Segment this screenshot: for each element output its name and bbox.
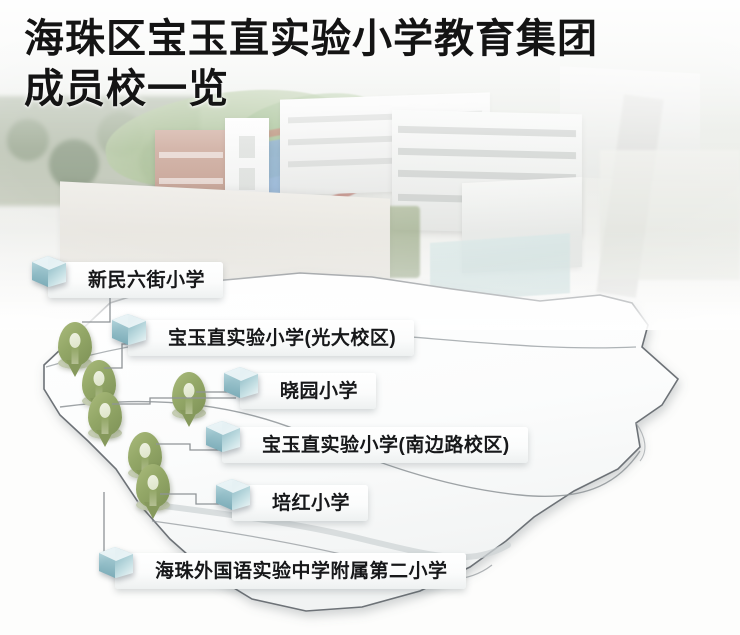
school-label-text: 海珠外国语实验中学附属第二小学 xyxy=(155,562,448,581)
school-label-text: 晓园小学 xyxy=(280,382,358,401)
school-label-text: 宝玉直实验小学(光大校区) xyxy=(168,329,396,348)
pin-stem xyxy=(102,418,109,434)
school-label-text: 宝玉直实验小学(南边路校区) xyxy=(262,436,510,455)
school-label-baoyuzhi-nanbianlu[interactable]: 宝玉直实验小学(南边路校区) xyxy=(222,427,528,463)
pin-hole xyxy=(70,333,81,348)
school-label-text: 培红小学 xyxy=(272,494,350,513)
ribbon-flag-icon xyxy=(218,364,264,404)
school-label-baoyuzhi-guangda[interactable]: 宝玉直实验小学(光大校区) xyxy=(128,320,414,356)
school-label-haiwai-fushu-2[interactable]: 海珠外国语实验中学附属第二小学 xyxy=(115,553,466,589)
pin-hole xyxy=(94,371,105,386)
ribbon-flag-icon xyxy=(93,544,139,584)
school-label-xinmin-liujie[interactable]: 新民六街小学 xyxy=(48,262,223,298)
school-label-xiaoyuan[interactable]: 晓园小学 xyxy=(240,373,376,409)
school-label-peihong[interactable]: 培红小学 xyxy=(232,485,368,521)
pin-hole xyxy=(100,403,111,418)
pin-hole xyxy=(184,383,195,398)
pin-stem xyxy=(150,490,157,506)
school-label-text: 新民六街小学 xyxy=(88,271,205,290)
ribbon-flag-icon xyxy=(210,476,256,516)
map-pin-icon[interactable] xyxy=(136,464,170,508)
ribbon-flag-icon xyxy=(106,311,152,351)
page-title: 海珠区宝玉直实验小学教育集团 成员校一览 xyxy=(24,14,598,114)
map-pin-icon[interactable] xyxy=(88,392,122,436)
ribbon-flag-icon xyxy=(26,253,72,293)
pin-stem xyxy=(72,348,79,364)
pin-hole xyxy=(148,475,159,490)
map-pin-icon[interactable] xyxy=(172,372,206,416)
pin-stem xyxy=(186,398,193,414)
infographic-root: 海珠区宝玉直实验小学教育集团 成员校一览 xyxy=(0,0,740,635)
ribbon-flag-icon xyxy=(200,418,246,458)
pin-hole xyxy=(140,443,151,458)
